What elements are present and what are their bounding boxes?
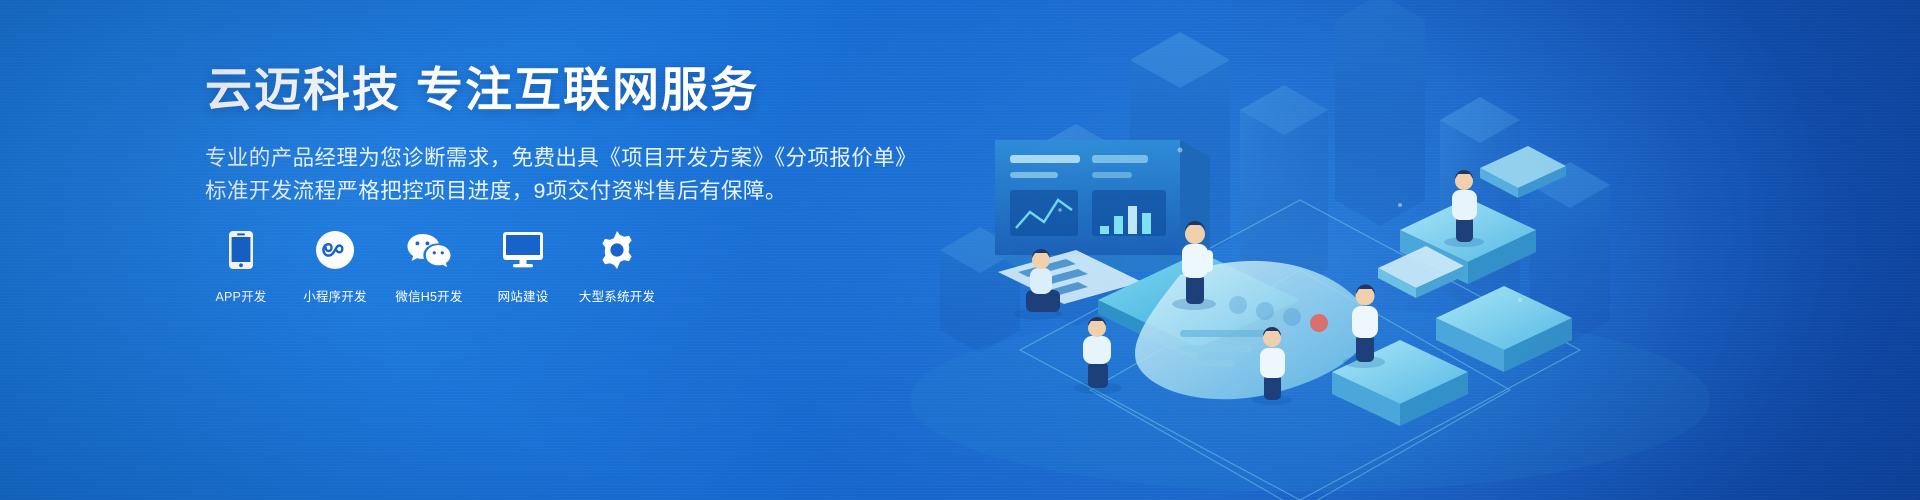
- wechat-icon: [406, 228, 452, 272]
- service-label: 大型系统开发: [579, 286, 655, 305]
- monitor-icon: [503, 228, 543, 272]
- service-item-wechat-h5[interactable]: 微信H5开发: [393, 228, 465, 305]
- service-item-website[interactable]: 网站建设: [487, 228, 559, 305]
- isometric-illustration: [880, 0, 1920, 500]
- banner-copy: 云迈科技 专注互联网服务 专业的产品经理为您诊断需求，免费出具《项目开发方案》《…: [205, 66, 965, 208]
- promo-banner: 云迈科技 专注互联网服务 专业的产品经理为您诊断需求，免费出具《项目开发方案》《…: [0, 0, 1920, 500]
- service-list: APP开发 小程序开发: [205, 228, 653, 305]
- service-label: APP开发: [215, 286, 266, 305]
- mini-program-icon: [316, 228, 354, 272]
- service-item-miniprogram[interactable]: 小程序开发: [299, 228, 371, 305]
- service-item-large-system[interactable]: 大型系统开发: [581, 228, 653, 305]
- banner-headline: 云迈科技 专注互联网服务: [205, 66, 965, 113]
- subtitle-line-1: 专业的产品经理为您诊断需求，免费出具《项目开发方案》《分项报价单》: [205, 142, 965, 175]
- service-label: 微信H5开发: [395, 286, 462, 305]
- banner-subtitle: 专业的产品经理为您诊断需求，免费出具《项目开发方案》《分项报价单》 标准开发流程…: [205, 142, 965, 208]
- service-label: 小程序开发: [303, 286, 367, 305]
- subtitle-line-2: 标准开发流程严格把控项目进度，9项交付资料售后有保障。: [205, 175, 965, 208]
- mobile-phone-icon: [229, 228, 253, 272]
- service-item-app[interactable]: APP开发: [205, 228, 277, 305]
- gear-icon: [598, 228, 636, 272]
- service-label: 网站建设: [498, 286, 549, 305]
